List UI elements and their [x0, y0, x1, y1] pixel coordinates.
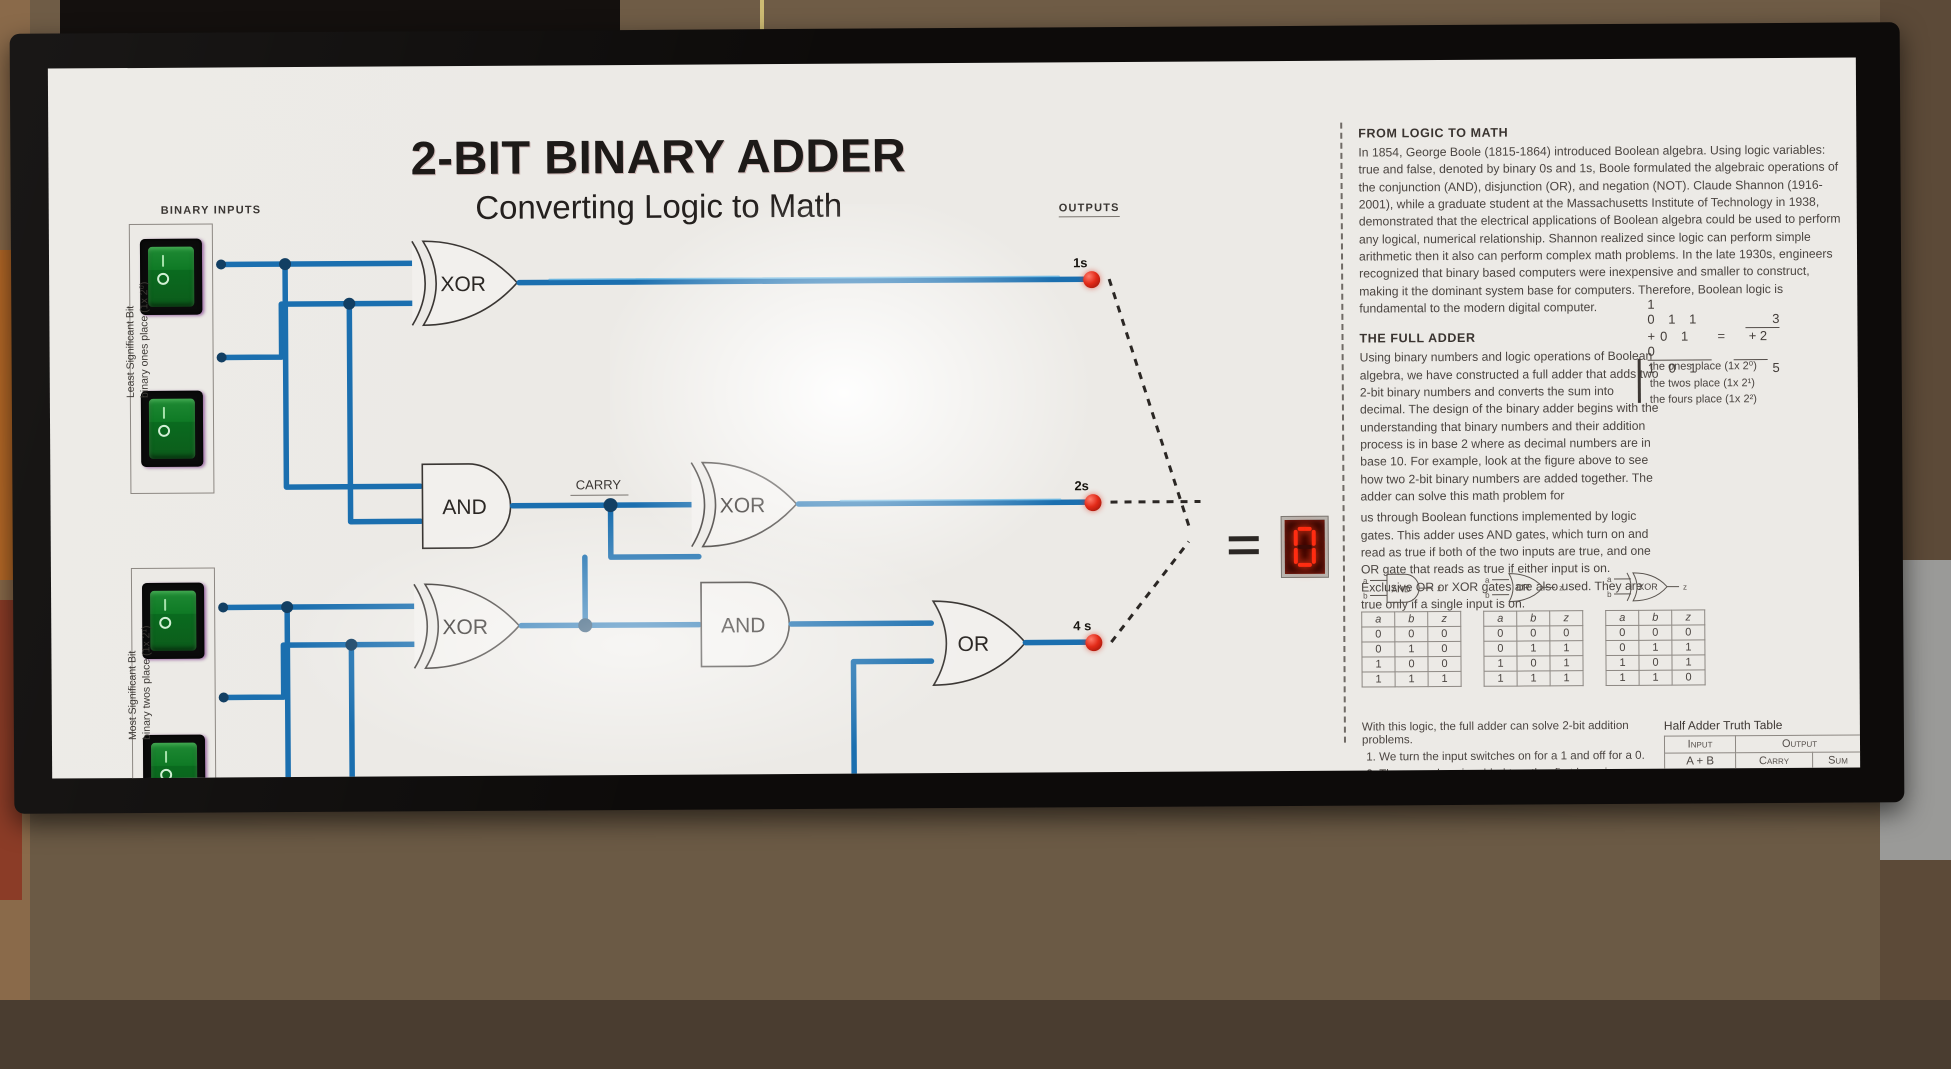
math-carry: 1	[1647, 296, 1711, 311]
truth-table-xor-symbol: a b XOR z	[1605, 568, 1705, 605]
segment-g-icon	[1298, 545, 1312, 549]
bracket-2s	[1111, 502, 1201, 503]
gate-and1-label: AND	[442, 496, 486, 519]
tt-or-h2: z	[1550, 611, 1583, 626]
math-carry-row: 1	[1647, 296, 1847, 312]
seven-segment-glass	[1285, 520, 1325, 574]
gate-xor2: XOR	[691, 462, 797, 547]
steps-section: With this logic, the full adder can solv…	[1362, 719, 1663, 779]
tt-xor-h1: b	[1639, 610, 1672, 625]
cell: 0	[1395, 627, 1428, 642]
led-1s	[1083, 271, 1100, 288]
ha-group-input: Input	[1664, 736, 1735, 753]
math-row-1: 0 1 1 3	[1647, 311, 1847, 329]
gate-or1: OR	[933, 601, 1026, 686]
truth-table-xor-grid: a b z 000 011 101 110	[1605, 609, 1705, 686]
cell: 0	[1606, 625, 1639, 640]
math-decimal-addend1: 3	[1745, 311, 1779, 328]
tt-and-gate-name: AND	[1392, 584, 1412, 594]
cell: 0	[1428, 626, 1461, 641]
table-row: 111	[1362, 671, 1461, 687]
gate-xor1-label: XOR	[440, 273, 486, 296]
gate-and2: AND	[701, 582, 790, 667]
half-adder-title: Half Adder Truth Table	[1664, 717, 1860, 732]
table-row: 110	[1606, 670, 1705, 686]
cell: 0 + 0	[1665, 770, 1736, 779]
cell: 0	[1672, 670, 1705, 685]
cell: 0	[1606, 640, 1639, 655]
cell: 1	[1362, 657, 1395, 672]
table-row: 111	[1484, 671, 1583, 687]
cell: 0	[1736, 769, 1813, 778]
wire-and3-out	[513, 661, 932, 778]
tt-or-input-a: a	[1485, 576, 1490, 585]
tt-and-input-b: b	[1363, 591, 1368, 600]
cell: 1	[1672, 655, 1705, 670]
cell: 1	[1606, 655, 1639, 670]
bracket-1s	[1109, 279, 1191, 532]
seven-segment-display	[1281, 516, 1329, 578]
cell: 0	[1395, 657, 1428, 672]
half-adder-section: Half Adder Truth Table Input Output A + …	[1664, 717, 1860, 778]
gate-xor1: XOR	[412, 241, 518, 326]
cell: 1	[1639, 640, 1672, 655]
gate-and2-label: AND	[721, 614, 765, 637]
carry-label: CARRY	[576, 477, 622, 492]
wires-lsb	[216, 257, 421, 522]
outputs-caption: OUTPUTS	[1059, 202, 1120, 217]
segment-a-icon	[1298, 527, 1312, 531]
half-adder-table: Input Output A + B Carry Sum 0 + 000 0 +…	[1664, 734, 1860, 778]
tt-or-h0: a	[1484, 611, 1517, 626]
table-row: 0 + 000	[1665, 769, 1860, 779]
cell: 0	[1517, 626, 1550, 641]
bracket-4s	[1111, 542, 1190, 642]
section1-heading: FROM LOGIC TO MATH	[1358, 124, 1843, 141]
place-note-fours: the fours place (1x 2²)	[1650, 391, 1850, 409]
page-title: 2-BIT BINARY ADDER	[348, 131, 968, 182]
segment-c-icon	[1312, 548, 1316, 564]
cell: 1	[1395, 642, 1428, 657]
led-2s	[1084, 494, 1101, 511]
table-row: 011	[1606, 640, 1705, 656]
table-row: 011	[1484, 641, 1583, 657]
gate-xor2-label: XOR	[720, 494, 766, 517]
table-row: 101	[1484, 656, 1583, 672]
table-row: Input Output	[1664, 735, 1860, 753]
cell: 1	[1550, 641, 1583, 656]
cell: 0	[1428, 656, 1461, 671]
page-subtitle: Converting Logic to Math	[349, 188, 969, 225]
steps-list: We turn the input switches on for a 1 an…	[1362, 748, 1663, 779]
steps-intro: With this logic, the full adder can solv…	[1362, 719, 1662, 747]
cell: 1	[1395, 672, 1428, 687]
bg-bottom-band	[0, 1000, 1951, 1069]
truth-table-or: a b OR z a b z 000 011	[1483, 569, 1584, 687]
cell: 1	[1672, 640, 1705, 655]
tt-xor-h0: a	[1606, 610, 1639, 625]
led-label-1s: 1s	[1073, 255, 1088, 270]
cell: 1	[1606, 670, 1639, 685]
math-equals: =	[1717, 328, 1725, 360]
table-row: 000	[1606, 625, 1705, 641]
table-row: 100	[1362, 656, 1461, 672]
tt-xor-input-a: a	[1607, 575, 1612, 584]
cell: 0	[1428, 641, 1461, 656]
segment-f-icon	[1294, 530, 1298, 546]
wire-xor2-out	[799, 502, 1091, 504]
cell: 0	[1362, 642, 1395, 657]
led-label-2s: 2s	[1074, 478, 1089, 493]
led-label-4s: 4 s	[1073, 618, 1091, 633]
section2-body: Using binary numbers and logic operation…	[1360, 348, 1661, 506]
truth-table-and-grid: a b z 000 010 100 111	[1361, 611, 1461, 688]
binary-inputs-caption: BINARY INPUTS	[161, 204, 262, 217]
gate-or1-label: OR	[958, 633, 990, 656]
math-binary-addend1: 0 1 1	[1647, 311, 1711, 328]
wire-xor3-out	[521, 625, 699, 626]
table-row: 000	[1362, 626, 1461, 642]
tt-and-h1: b	[1395, 612, 1428, 627]
ha-h1: Carry	[1736, 752, 1813, 769]
exhibit-panel-frame: 2-BIT BINARY ADDER Converting Logic to M…	[10, 22, 1905, 814]
exhibit-board: 2-BIT BINARY ADDER Converting Logic to M…	[48, 58, 1860, 779]
truth-table-or-symbol: a b OR z	[1483, 569, 1583, 606]
equals-bar-bottom	[1229, 549, 1259, 554]
place-value-notes: the ones place (1x 2⁰) the twos place (1…	[1650, 358, 1850, 409]
place-note-ones: the ones place (1x 2⁰)	[1650, 358, 1850, 376]
table-row: 000	[1484, 626, 1583, 642]
cell: 1	[1550, 671, 1583, 686]
truth-table-or-grid: a b z 000 011 101 111	[1483, 610, 1583, 687]
list-item: We turn the input switches on for a 1 an…	[1379, 748, 1662, 765]
tt-and-input-a: a	[1363, 576, 1368, 585]
table-row: A + B Carry Sum	[1665, 752, 1861, 770]
truth-table-xor: a b XOR z a b z 000	[1605, 568, 1706, 686]
truth-table-and-symbol: a b AND z	[1361, 570, 1461, 607]
equals-bar-top	[1229, 536, 1259, 541]
wire-and2-out	[791, 623, 931, 624]
tt-xor-input-b: b	[1607, 590, 1612, 599]
math-binary-addend2: +0 1 0	[1647, 328, 1711, 360]
gate-truth-tables: a b AND z a b z 000 010	[1361, 568, 1706, 687]
cell: 0	[1484, 626, 1517, 641]
math-spacer	[1745, 296, 1779, 311]
tt-or-input-b: b	[1485, 591, 1490, 600]
cell: 0	[1362, 627, 1395, 642]
cell: 1	[1517, 671, 1550, 686]
equals-sign	[1229, 536, 1259, 562]
tt-or-gate-name: OR	[1516, 583, 1530, 593]
ha-group-output: Output	[1736, 735, 1861, 753]
tt-xor-h2: z	[1672, 610, 1705, 625]
tt-and-output: z	[1437, 584, 1441, 593]
cell: 0	[1639, 655, 1672, 670]
cell: 0	[1517, 656, 1550, 671]
gate-and1: AND	[422, 464, 511, 549]
cell: 1	[1484, 656, 1517, 671]
cell: 1	[1639, 670, 1672, 685]
table-row: 010	[1362, 641, 1461, 657]
cell: 0	[1672, 625, 1705, 640]
wires-msb	[218, 600, 423, 778]
cell: 1	[1428, 671, 1461, 686]
cell: 1	[1550, 656, 1583, 671]
math-row-2: +0 1 0 = + 2	[1647, 328, 1847, 361]
tt-and-h0: a	[1362, 612, 1395, 627]
segment-d-icon	[1298, 563, 1312, 567]
cell: 0	[1550, 626, 1583, 641]
tt-or-h1: b	[1517, 611, 1550, 626]
seven-segment-digit	[1294, 527, 1316, 567]
tt-xor-gate-name: XOR	[1638, 582, 1658, 592]
list-item: The ones place is added together first b…	[1379, 764, 1662, 778]
gate-xor3: XOR	[414, 584, 520, 669]
cell: 0	[1812, 769, 1860, 779]
tt-xor-output: z	[1683, 583, 1687, 592]
gate-xor3-label: XOR	[442, 616, 488, 639]
segment-b-icon	[1312, 530, 1316, 546]
cell: 0	[1484, 641, 1517, 656]
cell: 1	[1484, 671, 1517, 686]
cell: 0	[1639, 625, 1672, 640]
truth-table-and: a b AND z a b z 000 010	[1361, 570, 1462, 688]
cell: 1	[1517, 641, 1550, 656]
title-block: 2-BIT BINARY ADDER Converting Logic to M…	[348, 131, 969, 225]
segment-e-icon	[1294, 548, 1298, 564]
math-decimal-addend2: + 2	[1733, 328, 1767, 360]
tt-or-output: z	[1559, 583, 1563, 592]
table-row: 101	[1606, 655, 1705, 671]
wire-carry-branch	[611, 505, 699, 558]
place-note-twos: the twos place (1x 2¹)	[1650, 374, 1850, 392]
section1-body: In 1854, George Boole (1815-1864) introd…	[1358, 142, 1844, 318]
tt-and-h2: z	[1428, 611, 1461, 626]
led-4s	[1085, 634, 1102, 651]
ha-h2: Sum	[1812, 752, 1860, 769]
ha-h0: A + B	[1665, 753, 1736, 770]
cell: 1	[1362, 672, 1395, 687]
